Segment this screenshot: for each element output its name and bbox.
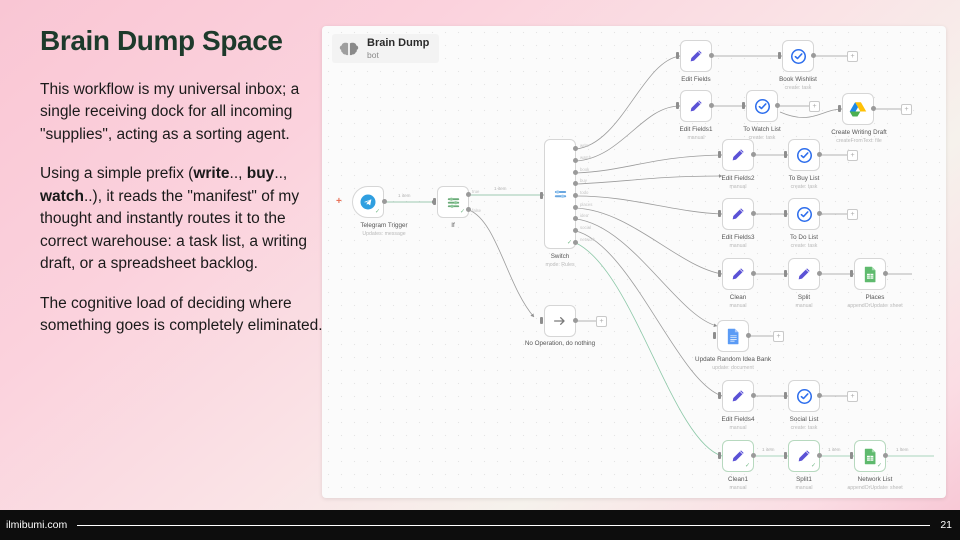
pencil-icon [730, 206, 746, 222]
node-label-edit-fields4: Edit Fields4 manual [702, 416, 774, 431]
filter-icon [445, 194, 462, 211]
node-label-edit-fields2: Edit Fields2 manual [702, 175, 774, 190]
edit1-out-port[interactable] [709, 103, 714, 108]
network-out-port[interactable] [883, 453, 888, 458]
todoist-icon [790, 48, 807, 65]
label-text: Book Wishlist [779, 76, 817, 83]
label-text: Switch [551, 253, 570, 260]
label-text: No Operation, do nothing [525, 340, 595, 347]
add-node-plus-idea[interactable]: + [773, 331, 784, 342]
node-label-to-do-list: To Do List create: task [766, 234, 842, 249]
edit1-in-port[interactable] [676, 102, 679, 109]
prefix-watch: watch [40, 188, 84, 205]
node-label-switch: Switch mode: Rules [520, 253, 600, 268]
switch-icon [552, 186, 569, 203]
bookwish-out-port[interactable] [811, 53, 816, 58]
prefix-write: write [193, 165, 229, 182]
paragraph-2: Using a simple prefix (write.., buy.., w… [40, 163, 325, 275]
label-text: Network List [858, 476, 893, 483]
label-text: Edit Fields3 [722, 234, 755, 241]
add-node-plus-towatch[interactable]: + [809, 101, 820, 112]
edge-label-2: 1 item [494, 186, 507, 191]
if-in-port[interactable] [433, 198, 436, 205]
todo-in-port[interactable] [784, 210, 787, 217]
node-label-edit-fields1: Edit Fields1 manual [660, 126, 732, 141]
places-out-port[interactable] [883, 271, 888, 276]
label-sub: create: task [766, 425, 842, 432]
towatch-out-port[interactable] [775, 103, 780, 108]
switch-out-port-8[interactable] [573, 240, 578, 245]
telegram-out-port[interactable] [382, 199, 387, 204]
split1-out-port[interactable] [817, 453, 822, 458]
switch-label-6: idea [580, 213, 588, 218]
node-label-places: Places appendOrUpdate: sheet [828, 294, 922, 309]
add-node-plus-bookwish[interactable]: + [847, 51, 858, 62]
towatch-in-port[interactable] [742, 102, 745, 109]
page-title: Brain Dump Space [40, 26, 325, 57]
node-switch[interactable]: ✓ [544, 139, 576, 249]
node-check-icon: ✓ [460, 209, 465, 215]
label-text: If [451, 222, 455, 229]
label-text: Split1 [796, 476, 812, 483]
if-false-port[interactable] [466, 207, 471, 212]
label-sub: manual [704, 485, 772, 492]
idea-out-port[interactable] [746, 333, 751, 338]
arrow-right-icon [552, 313, 568, 329]
label-text: Places [866, 294, 885, 301]
slide: Brain Dump Space This workflow is my uni… [0, 0, 960, 540]
edit4-out-port[interactable] [751, 393, 756, 398]
edit0-in-port[interactable] [676, 52, 679, 59]
label-sub: manual [702, 243, 774, 250]
writedraft-out-port[interactable] [871, 106, 876, 111]
pencil-icon [796, 448, 812, 464]
clean1-in-port[interactable] [718, 452, 721, 459]
social-in-port[interactable] [784, 392, 787, 399]
pencil-icon [688, 98, 704, 114]
writedraft-in-port[interactable] [838, 105, 841, 112]
switch-out-port-7[interactable] [573, 228, 578, 233]
label-sub: manual [702, 184, 774, 191]
node-edit-fields4[interactable] [722, 380, 754, 412]
node-to-do-list[interactable] [788, 198, 820, 230]
pencil-icon [688, 48, 704, 64]
edit0-out-port[interactable] [709, 53, 714, 58]
pencil-icon [730, 448, 746, 464]
node-create-writing-draft[interactable] [842, 93, 874, 125]
node-label-edit-fields3: Edit Fields3 manual [702, 234, 774, 249]
add-node-plus-writedraft[interactable]: + [901, 104, 912, 115]
node-label-clean: Clean manual [704, 294, 772, 309]
todoist-icon [796, 388, 813, 405]
label-text: To Watch List [743, 126, 781, 133]
edge-label-5: 1 item [896, 447, 909, 452]
label-text: Edit Fields1 [680, 126, 713, 133]
node-social-list[interactable] [788, 380, 820, 412]
switch-out-port-2[interactable] [573, 170, 578, 175]
label-sub: appendOrUpdate: sheet [828, 303, 922, 310]
node-book-wishlist[interactable] [782, 40, 814, 72]
todo-out-port[interactable] [817, 211, 822, 216]
switch-out-port-5[interactable] [573, 205, 578, 210]
node-split[interactable] [788, 258, 820, 290]
label-text: Clean [730, 294, 746, 301]
node-label-edit-fields: Edit Fields [660, 76, 732, 84]
node-clean[interactable] [722, 258, 754, 290]
tobuy-in-port[interactable] [784, 151, 787, 158]
label-text: Telegram Trigger [360, 222, 407, 229]
todoist-icon [754, 98, 771, 115]
switch-label-0: write [580, 143, 589, 148]
node-label-create-writing-draft: Create Writing Draft createFromText: fil… [814, 129, 904, 144]
switch-label-5: places [580, 202, 592, 207]
tobuy-out-port[interactable] [817, 152, 822, 157]
node-to-buy-list[interactable] [788, 139, 820, 171]
node-check-icon: ✓ [567, 240, 572, 246]
noop-out-port[interactable] [573, 318, 578, 323]
label-text: Edit Fields2 [722, 175, 755, 182]
node-no-operation[interactable] [544, 305, 576, 337]
port-label-false: false [472, 208, 481, 213]
workflow-name: Brain Dump [367, 38, 429, 50]
label-text: To Buy List [789, 175, 820, 182]
todoist-icon [796, 147, 813, 164]
p2-a: Using a simple prefix ( [40, 165, 193, 182]
switch-out-port-3[interactable] [573, 181, 578, 186]
edge-label-3: 1 item [762, 447, 775, 452]
bookwish-in-port[interactable] [778, 52, 781, 59]
node-edit-fields[interactable] [680, 40, 712, 72]
brain-icon [338, 40, 360, 58]
switch-label-4: todo [580, 190, 588, 195]
node-check-icon: ✓ [745, 463, 750, 469]
label-text: Edit Fields [681, 76, 710, 83]
node-label-noop: No Operation, do nothing [499, 340, 621, 348]
node-network-list[interactable]: ✓ [854, 440, 886, 472]
switch-label-2: book [580, 167, 589, 172]
pencil-icon [730, 388, 746, 404]
label-sub: manual [702, 425, 774, 432]
label-text: Update Random Idea Bank [695, 356, 771, 363]
label-sub: appendOrUpdate: sheet [828, 485, 922, 492]
pencil-icon [730, 147, 746, 163]
edge-label-4: 1 item [828, 447, 841, 452]
noop-in-port[interactable] [540, 317, 543, 324]
node-label-if: If [413, 222, 493, 230]
add-node-plus-tobuy[interactable]: + [847, 150, 858, 161]
label-text: Social List [790, 416, 819, 423]
label-text: Clean1 [728, 476, 748, 483]
gdrive-icon [849, 101, 867, 117]
switch-label-7: social [580, 225, 591, 230]
paragraph-3: The cognitive load of deciding where som… [40, 293, 325, 338]
edit2-in-port[interactable] [718, 151, 721, 158]
label-sub: createFromText: file [814, 138, 904, 145]
node-edit-fields3[interactable] [722, 198, 754, 230]
workflow-header[interactable]: Brain Dump bot [332, 34, 439, 63]
social-out-port[interactable] [817, 393, 822, 398]
switch-in-port[interactable] [540, 192, 543, 199]
footer-page-number: 21 [940, 519, 952, 531]
node-update-random-idea-bank[interactable] [717, 320, 749, 352]
add-node-plus-social[interactable]: + [847, 391, 858, 402]
switch-out-port-0[interactable] [573, 146, 578, 151]
clean-in-port[interactable] [718, 270, 721, 277]
add-node-plus-noop[interactable]: + [596, 316, 607, 327]
node-edit-fields1[interactable] [680, 90, 712, 122]
split-in-port[interactable] [784, 270, 787, 277]
footer-divider [77, 525, 930, 526]
label-text: Edit Fields4 [722, 416, 755, 423]
pencil-icon [796, 266, 812, 282]
footer-site: ilmibumi.com [6, 519, 67, 531]
edge-label-1: 1 item [398, 193, 411, 198]
label-text: Split [798, 294, 810, 301]
switch-label-8: network [580, 237, 595, 242]
add-trigger-plus[interactable]: + [336, 196, 342, 207]
switch-out-port-6[interactable] [573, 216, 578, 221]
text-column: Brain Dump Space This workflow is my uni… [40, 26, 325, 354]
if-true-port[interactable] [466, 192, 471, 197]
label-text: Create Writing Draft [831, 129, 887, 136]
label-sub: manual [704, 303, 772, 310]
label-sub: update: document [693, 365, 773, 372]
label-sub: manual [660, 135, 732, 142]
switch-label-3: buy [580, 178, 587, 183]
node-label-social-list: Social List create: task [766, 416, 842, 431]
paragraph-1: This workflow is my universal inbox; a s… [40, 79, 325, 146]
todoist-icon [796, 206, 813, 223]
edit4-in-port[interactable] [718, 392, 721, 399]
node-check-icon: ✓ [375, 209, 380, 215]
node-label-update-random-idea-bank: Update Random Idea Bank update: document [693, 356, 773, 371]
places-in-port[interactable] [850, 270, 853, 277]
clean-out-port[interactable] [751, 271, 756, 276]
label-sub: create: task [766, 243, 842, 250]
port-label-true: true [472, 189, 479, 194]
workflow-header-text: Brain Dump bot [367, 38, 429, 59]
workflow-subtitle: bot [367, 51, 429, 60]
clean1-out-port[interactable] [751, 453, 756, 458]
p2-c1: .., [230, 165, 247, 182]
footer: ilmibumi.com 21 [0, 510, 960, 540]
p2-c2: .., [274, 165, 287, 182]
node-to-watch-list[interactable] [746, 90, 778, 122]
gdocs-icon [726, 328, 741, 345]
switch-out-port-4[interactable] [573, 193, 578, 198]
edit3-out-port[interactable] [751, 211, 756, 216]
network-in-port[interactable] [850, 452, 853, 459]
split-out-port[interactable] [817, 271, 822, 276]
node-places[interactable] [854, 258, 886, 290]
switch-label-1: watch [580, 155, 591, 160]
label-sub: create: task [766, 184, 842, 191]
node-check-icon: ✓ [811, 463, 816, 469]
node-split1[interactable]: ✓ [788, 440, 820, 472]
node-telegram-trigger[interactable]: ✓ [352, 186, 384, 218]
gsheets-icon [863, 266, 878, 283]
node-clean1[interactable]: ✓ [722, 440, 754, 472]
node-label-network-list: Network List appendOrUpdate: sheet [828, 476, 922, 491]
edit3-in-port[interactable] [718, 210, 721, 217]
label-text: To Do List [790, 234, 818, 241]
node-label-to-buy-list: To Buy List create: task [766, 175, 842, 190]
node-label-clean1: Clean1 manual [704, 476, 772, 491]
pencil-icon [730, 266, 746, 282]
split1-in-port[interactable] [784, 452, 787, 459]
add-node-plus-todo[interactable]: + [847, 209, 858, 220]
label-sub: mode: Rules [520, 262, 600, 269]
switch-out-port-1[interactable] [573, 158, 578, 163]
prefix-buy: buy [247, 165, 275, 182]
workflow-canvas[interactable]: Brain Dump bot [322, 26, 946, 498]
node-check-icon: ✓ [877, 463, 882, 469]
label-sub: Updates: message [340, 231, 428, 238]
idea-in-port[interactable] [713, 332, 716, 339]
edit2-out-port[interactable] [751, 152, 756, 157]
gsheets-icon [863, 448, 878, 465]
node-if[interactable]: ✓ [437, 186, 469, 218]
node-edit-fields2[interactable] [722, 139, 754, 171]
